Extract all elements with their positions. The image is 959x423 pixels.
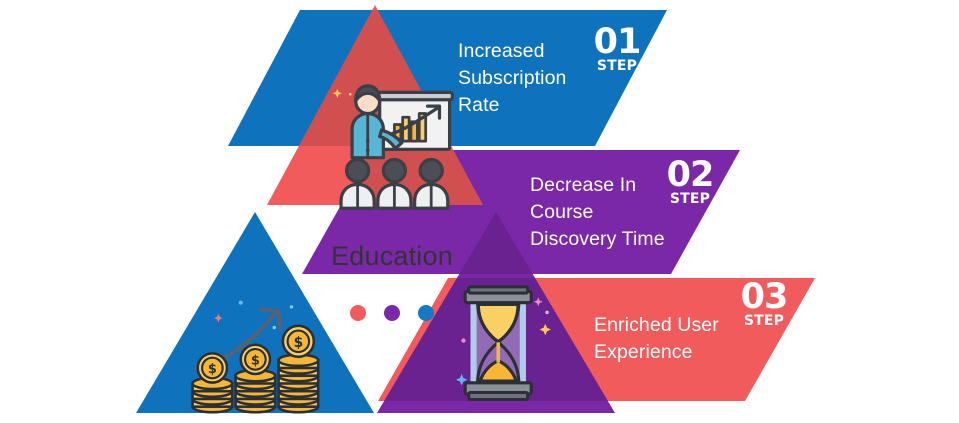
step-01-number: 01 [586, 26, 648, 58]
step-03-badge: 03 STEP [733, 281, 795, 329]
dot-blue [418, 305, 434, 321]
svg-text:$: $ [251, 354, 260, 369]
infographic-root: $ $ [0, 0, 959, 423]
svg-text:$: $ [208, 362, 217, 377]
dot-coral [350, 305, 366, 321]
step-02-number: 02 [659, 159, 721, 191]
svg-text:$: $ [294, 335, 304, 351]
center-dots [307, 305, 477, 321]
step-03-number: 03 [733, 281, 795, 313]
step-03-text: Enriched User Experience [594, 312, 754, 366]
page-title: Education [307, 240, 477, 272]
dot-purple [384, 305, 400, 321]
step-01-badge: 01 STEP [586, 26, 648, 74]
step-02-badge: 02 STEP [659, 159, 721, 207]
